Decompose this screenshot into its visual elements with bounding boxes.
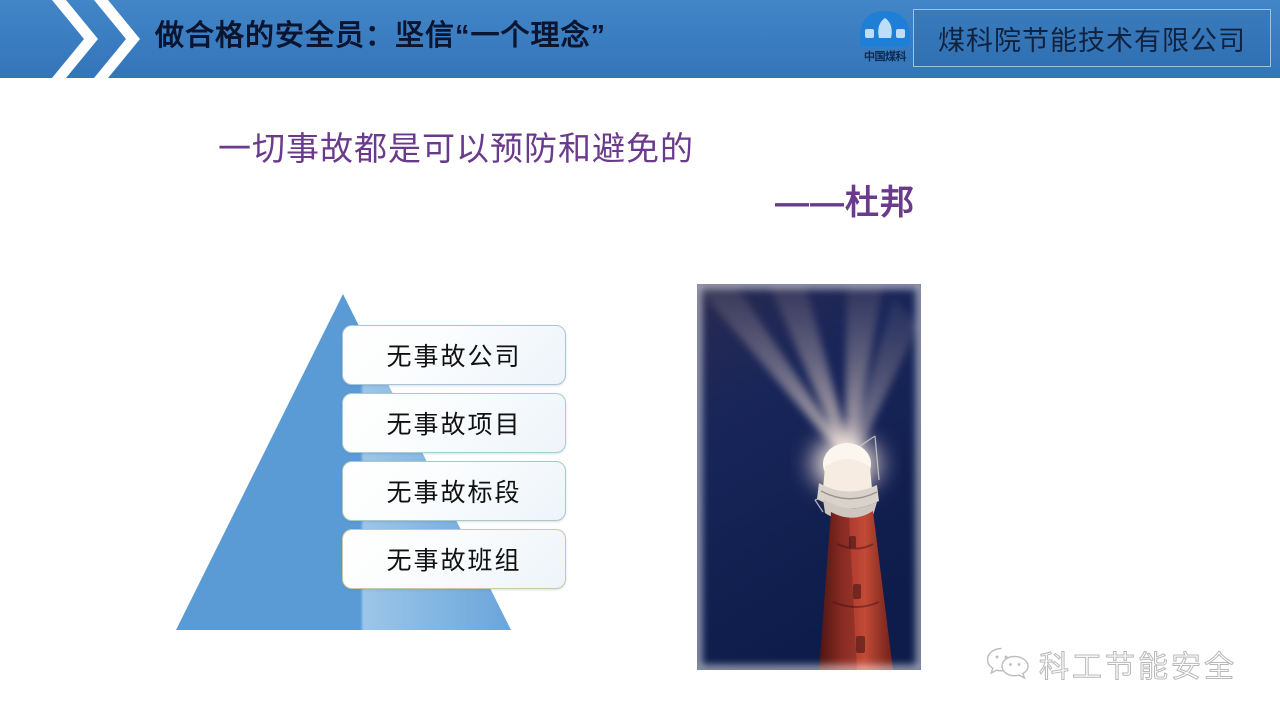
- company-name-box: 煤科院节能技术有限公司: [913, 9, 1271, 67]
- china-coal-technology-logo-icon: [858, 10, 912, 48]
- pyramid-tier: 无事故班组: [342, 529, 566, 589]
- pyramid-tier-label: 无事故公司: [386, 337, 521, 373]
- pyramid-tier: 无事故标段: [342, 461, 566, 521]
- quote-attribution: ——杜邦: [775, 175, 915, 224]
- wechat-icon: [985, 645, 1031, 683]
- pyramid-tier: 无事故公司: [342, 325, 566, 385]
- chevron-right-icon-2: [94, 0, 140, 78]
- watermark-text: 科工节能安全: [1039, 642, 1237, 686]
- pyramid-tier-label: 无事故项目: [386, 405, 521, 441]
- company-name-text: 煤科院节能技术有限公司: [938, 19, 1246, 58]
- pyramid-tier-label: 无事故标段: [386, 473, 521, 509]
- quote-text: 一切事故都是可以预防和避免的: [218, 122, 694, 170]
- pyramid-diagram: 无事故公司 无事故项目 无事故标段 无事故班组: [170, 288, 580, 638]
- slide-header: 做合格的安全员：坚信“一个理念” 中国煤科 煤科院节能技术有限公司: [0, 0, 1280, 78]
- page-title: 做合格的安全员：坚信“一个理念”: [155, 14, 606, 58]
- logo-caption: 中国煤科: [852, 48, 918, 64]
- pyramid-tier-label: 无事故班组: [386, 541, 521, 577]
- brand-logo: 中国煤科: [852, 10, 918, 70]
- chevron-right-icon-1: [52, 0, 98, 78]
- watermark: 科工节能安全: [985, 640, 1255, 688]
- pyramid-tier: 无事故项目: [342, 393, 566, 453]
- lighthouse-photo: [697, 284, 921, 670]
